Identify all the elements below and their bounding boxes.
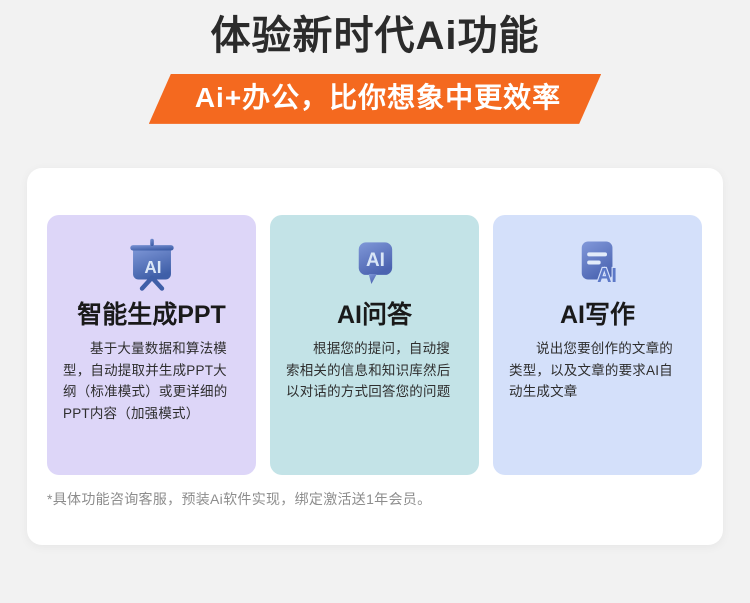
feature-card-qa[interactable]: AI AI问答 根据您的提问，自动搜索相关的信息和知识库然后以对话的方式回答您的… bbox=[270, 215, 479, 475]
svg-text:AI: AI bbox=[597, 265, 617, 287]
panel-footnote: *具体功能咨询客服，预装Ai软件实现，绑定激活送1年会员。 bbox=[47, 489, 431, 509]
feature-card-title: 智能生成PPT bbox=[77, 301, 226, 330]
banner-container: Ai+办公，比你想象中更效率 bbox=[0, 74, 750, 124]
ai-presentation-board-icon: AI bbox=[123, 237, 181, 293]
svg-text:AI: AI bbox=[144, 257, 161, 277]
ai-document-icon: AI bbox=[569, 237, 627, 293]
feature-card-ppt[interactable]: AI 智能生成PPT 基于大量数据和算法模型，自动提取并生成PPT大纲（标准模式… bbox=[47, 215, 256, 475]
feature-panel: AI 智能生成PPT 基于大量数据和算法模型，自动提取并生成PPT大纲（标准模式… bbox=[27, 168, 723, 545]
page-title: 体验新时代Ai功能 bbox=[0, 0, 750, 56]
feature-card-description: 根据您的提问，自动搜索相关的信息和知识库然后以对话的方式回答您的问题 bbox=[284, 338, 465, 404]
feature-card-title: AI写作 bbox=[560, 301, 635, 330]
promo-banner: Ai+办公，比你想象中更效率 bbox=[149, 74, 601, 124]
feature-card-writing[interactable]: AI AI写作 说出您要创作的文章的类型，以及文章的要求AI自动生成文章 bbox=[493, 215, 702, 475]
feature-card-description: 说出您要创作的文章的类型，以及文章的要求AI自动生成文章 bbox=[507, 338, 688, 404]
feature-card-description: 基于大量数据和算法模型，自动提取并生成PPT大纲（标准模式）或更详细的PPT内容… bbox=[61, 338, 242, 425]
feature-card-list: AI 智能生成PPT 基于大量数据和算法模型，自动提取并生成PPT大纲（标准模式… bbox=[47, 215, 703, 475]
feature-card-title: AI问答 bbox=[337, 301, 412, 330]
svg-text:AI: AI bbox=[365, 250, 384, 271]
ai-speech-bubble-icon: AI bbox=[346, 237, 404, 293]
